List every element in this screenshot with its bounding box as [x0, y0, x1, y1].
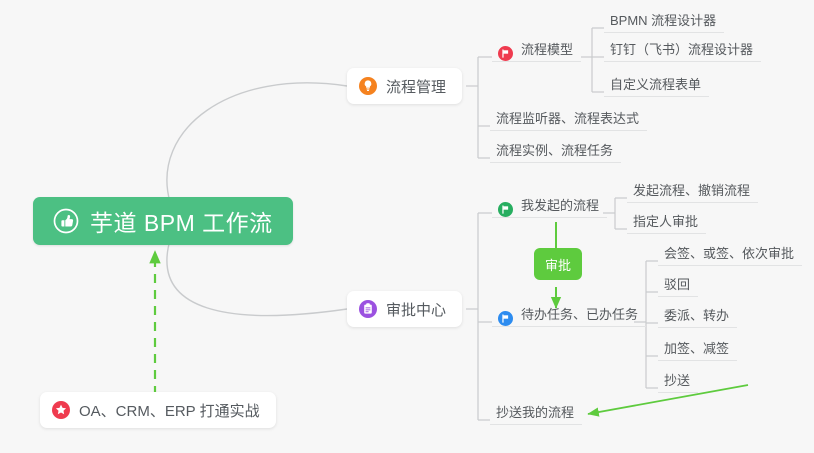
- star-icon: [52, 401, 70, 419]
- node-assignee-approval[interactable]: 指定人审批: [627, 208, 706, 234]
- node-reject[interactable]: 驳回: [658, 271, 698, 297]
- branch-node-process-management[interactable]: 流程管理: [347, 68, 462, 104]
- node-process-listener[interactable]: 流程监听器、流程表达式: [490, 105, 647, 131]
- node-bpmn-designer[interactable]: BPMN 流程设计器: [604, 7, 724, 33]
- label-custom-form: 自定义流程表单: [610, 74, 701, 96]
- lightbulb-icon: [359, 77, 377, 95]
- footer-node-integration-practice[interactable]: OA、CRM、ERP 打通实战: [40, 392, 276, 428]
- node-dingtalk-designer[interactable]: 钉钉（飞书）流程设计器: [604, 36, 761, 62]
- root-node[interactable]: 芋道 BPM 工作流: [33, 197, 293, 245]
- link-root-to-approval-center: [167, 240, 347, 316]
- root-label: 芋道 BPM 工作流: [90, 204, 273, 238]
- node-custom-form[interactable]: 自定义流程表单: [604, 71, 709, 97]
- label-countersign: 会签、或签、依次审批: [664, 243, 794, 265]
- flag-icon-green: [498, 202, 513, 217]
- link-root-to-process-management: [167, 83, 347, 202]
- node-todo-done-tasks[interactable]: 待办任务、已办任务: [492, 301, 646, 327]
- mindmap-canvas: 芋道 BPM 工作流 流程管理 流程模型 BPMN 流程设计器 钉钉（飞书）流程: [0, 0, 814, 453]
- footer-node-label: OA、CRM、ERP 打通实战: [79, 400, 260, 421]
- label-dingtalk-designer: 钉钉（飞书）流程设计器: [610, 39, 753, 61]
- flag-icon-blue: [498, 311, 513, 326]
- label-process-instance: 流程实例、流程任务: [496, 140, 613, 162]
- node-cc[interactable]: 抄送: [658, 367, 698, 393]
- label-process-model: 流程模型: [521, 39, 573, 61]
- label-my-initiated-process: 我发起的流程: [521, 195, 599, 217]
- node-my-initiated-process[interactable]: 我发起的流程: [492, 192, 607, 218]
- node-delegate-transfer[interactable]: 委派、转办: [658, 302, 737, 328]
- flag-icon-red: [498, 46, 513, 61]
- label-add-remove-sign: 加签、减签: [664, 338, 729, 360]
- label-cc-my-process: 抄送我的流程: [496, 402, 574, 424]
- label-process-listener: 流程监听器、流程表达式: [496, 108, 639, 130]
- node-cc-my-process[interactable]: 抄送我的流程: [490, 399, 582, 425]
- node-countersign[interactable]: 会签、或签、依次审批: [658, 240, 802, 266]
- label-bpmn-designer: BPMN 流程设计器: [610, 10, 716, 32]
- label-assignee-approval: 指定人审批: [633, 211, 698, 233]
- branch-node-approval-center[interactable]: 审批中心: [347, 291, 462, 327]
- label-cc: 抄送: [664, 370, 690, 392]
- tag-label-approval: 审批: [545, 255, 571, 274]
- branch-label-approval-center: 审批中心: [386, 299, 446, 320]
- tag-node-approval[interactable]: 审批: [534, 248, 582, 280]
- node-process-model[interactable]: 流程模型: [492, 36, 581, 62]
- node-add-remove-sign[interactable]: 加签、减签: [658, 335, 737, 361]
- label-todo-done-tasks: 待办任务、已办任务: [521, 304, 638, 326]
- clipboard-icon: [359, 300, 377, 318]
- label-reject: 驳回: [664, 274, 690, 296]
- node-start-cancel-process[interactable]: 发起流程、撤销流程: [627, 177, 758, 203]
- thumbs-up-icon: [53, 208, 79, 234]
- node-process-instance[interactable]: 流程实例、流程任务: [490, 137, 621, 163]
- label-delegate-transfer: 委派、转办: [664, 305, 729, 327]
- label-start-cancel-process: 发起流程、撤销流程: [633, 180, 750, 202]
- branch-label-process-management: 流程管理: [386, 76, 446, 97]
